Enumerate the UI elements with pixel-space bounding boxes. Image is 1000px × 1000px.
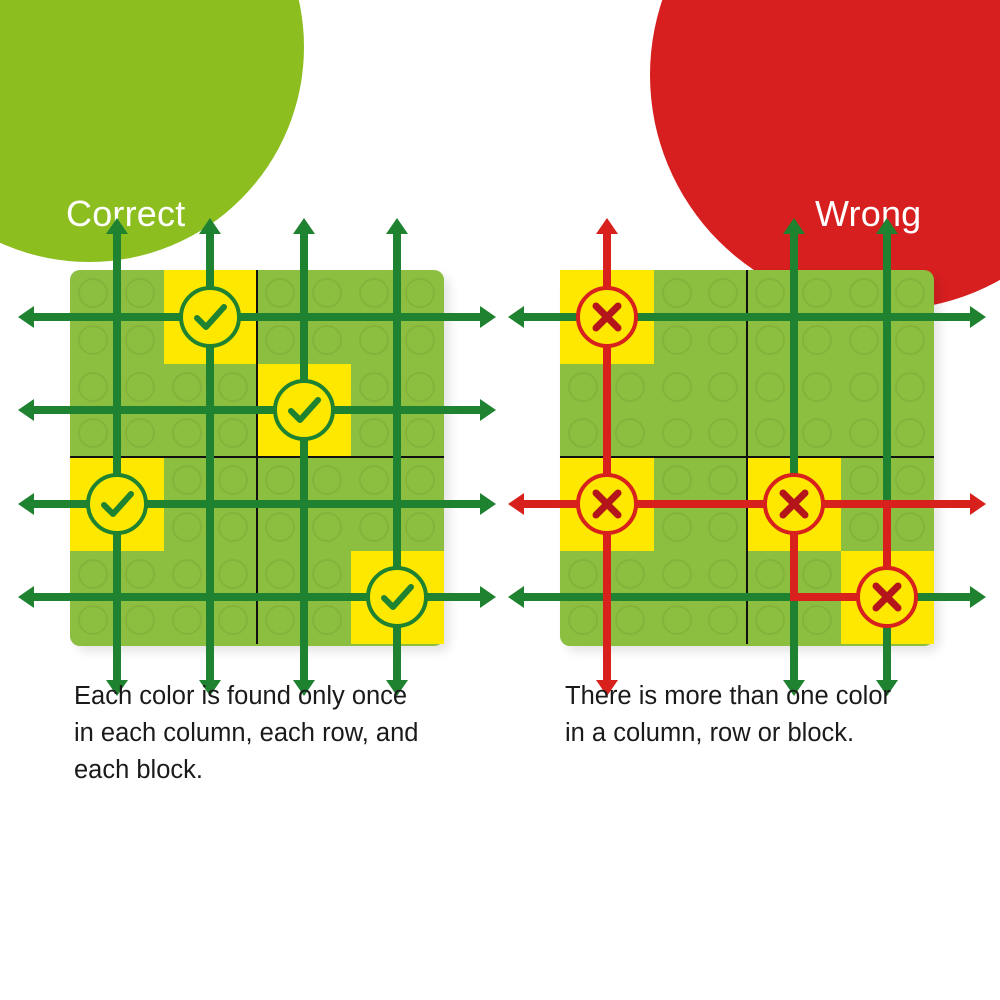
check-icon[interactable] (179, 286, 241, 348)
arrow-head-up (199, 218, 221, 234)
overlay-correct (70, 270, 444, 644)
arrow-head-right (480, 493, 496, 515)
cross-icon[interactable] (576, 286, 638, 348)
check-icon[interactable] (366, 566, 428, 628)
arrow-head-right (480, 586, 496, 608)
caption-line: in a column, row or block. (565, 715, 965, 752)
wrong-label: Wrong (815, 193, 921, 235)
wrong-caption: There is more than one color in a column… (565, 678, 965, 752)
check-icon[interactable] (273, 379, 335, 441)
scan-line-horizontal (34, 406, 480, 414)
correct-caption: Each color is found only once in each co… (74, 678, 474, 789)
arrow-head-left (508, 306, 524, 328)
arrow-head-right (480, 399, 496, 421)
arrow-head-up (596, 218, 618, 234)
arrow-head-left (18, 586, 34, 608)
caption-line: There is more than one color (565, 678, 965, 715)
cross-icon[interactable] (763, 473, 825, 535)
scan-line-vertical (113, 234, 121, 680)
scan-line-vertical (300, 234, 308, 680)
arrow-head-right (970, 306, 986, 328)
arrow-head-up (386, 218, 408, 234)
wrong-badge-circle (650, 0, 1000, 310)
caption-line: Each color is found only once (74, 678, 474, 715)
cross-icon[interactable] (576, 473, 638, 535)
correct-grid-panel (70, 270, 444, 646)
check-icon[interactable] (86, 473, 148, 535)
arrow-head-right (970, 493, 986, 515)
arrow-head-left (18, 399, 34, 421)
illustration-stage: Correct Wrong Each color is found only o… (0, 0, 1000, 1000)
arrow-head-right (970, 586, 986, 608)
block-divider-horizontal (560, 456, 934, 458)
scan-line-vertical (790, 234, 798, 680)
arrow-head-up (876, 218, 898, 234)
overlay-wrong (560, 270, 934, 644)
wrong-grid-panel (560, 270, 934, 646)
arrow-head-right (480, 306, 496, 328)
caption-line: in each column, each row, and (74, 715, 474, 752)
cross-icon[interactable] (856, 566, 918, 628)
block-divider-horizontal (70, 456, 444, 458)
arrow-head-left (508, 493, 524, 515)
arrow-head-left (18, 493, 34, 515)
arrow-head-up (783, 218, 805, 234)
arrow-head-left (18, 306, 34, 328)
arrow-head-up (106, 218, 128, 234)
caption-line: each block. (74, 752, 474, 789)
arrow-head-up (293, 218, 315, 234)
arrow-head-left (508, 586, 524, 608)
scan-line-horizontal (34, 313, 480, 321)
